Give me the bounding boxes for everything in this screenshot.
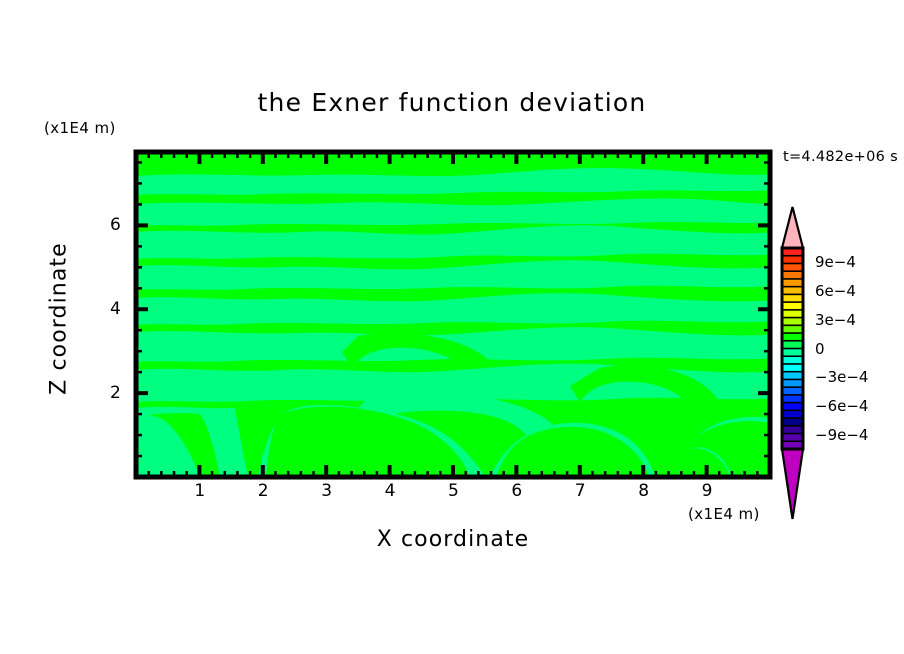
x-tick-label: 4 [385, 481, 396, 501]
colorbar-under-cap [782, 449, 803, 519]
colorbar-band [782, 387, 803, 395]
colorbar-tick-label: 9e−4 [815, 253, 856, 271]
x-tick-label: 8 [638, 481, 649, 501]
colorbar-over-cap [782, 207, 803, 248]
colorbar-tick-label: 6e−4 [815, 282, 856, 300]
colorbar-band [782, 418, 803, 426]
x-tick-label: 1 [194, 481, 205, 501]
colorbar-band [782, 325, 803, 333]
colorbar-band [782, 341, 803, 349]
x-tick-label: 7 [575, 481, 586, 501]
colorbar-band [782, 287, 803, 295]
colorbar-band [782, 256, 803, 264]
colorbar-band [782, 349, 803, 357]
colorbar-band [782, 302, 803, 310]
y-tick-label: 4 [110, 299, 121, 319]
colorbar-band [782, 434, 803, 442]
colorbar-tick-label: 3e−4 [815, 311, 856, 329]
colorbar-tick-label: −6e−4 [815, 397, 868, 415]
contour-plot[interactable] [130, 146, 778, 486]
colorbar-band [782, 263, 803, 271]
x-axis-unit-label: (x1E4 m) [688, 505, 760, 523]
colorbar-band [782, 294, 803, 302]
colorbar-band [782, 372, 803, 380]
x-tick-label: 5 [448, 481, 459, 501]
colorbar-band [782, 364, 803, 372]
colorbar-band [782, 279, 803, 287]
colorbar-tick-label: 0 [815, 340, 825, 358]
colorbar-band [782, 318, 803, 326]
colorbar-tick-label: −9e−4 [815, 426, 868, 444]
x-tick-label: 3 [321, 481, 332, 501]
x-tick-label: 9 [702, 481, 713, 501]
y-axis-unit-label: (x1E4 m) [44, 119, 116, 137]
colorbar-band [782, 395, 803, 403]
x-axis-label: X coordinate [136, 527, 770, 552]
colorbar-band [782, 403, 803, 411]
colorbar-band [782, 310, 803, 318]
y-tick-label: 2 [110, 383, 121, 403]
x-tick-label: 6 [511, 481, 522, 501]
figure-canvas: the Exner function deviation (x1E4 m) t=… [0, 0, 904, 654]
time-annotation: t=4.482e+06 s [783, 149, 898, 165]
x-tick-label: 2 [258, 481, 269, 501]
contour-field [136, 152, 776, 477]
colorbar-band [782, 426, 803, 434]
chart-title: the Exner function deviation [0, 88, 904, 117]
colorbar-tick-label: −3e−4 [815, 368, 868, 386]
y-tick-label: 6 [110, 215, 121, 235]
colorbar-band [782, 410, 803, 418]
colorbar[interactable] [776, 203, 820, 523]
colorbar-bands [782, 248, 803, 449]
colorbar-band [782, 356, 803, 364]
colorbar-band [782, 271, 803, 279]
colorbar-band [782, 333, 803, 341]
colorbar-band [782, 379, 803, 387]
y-axis-label: Z coordinate [47, 219, 72, 419]
